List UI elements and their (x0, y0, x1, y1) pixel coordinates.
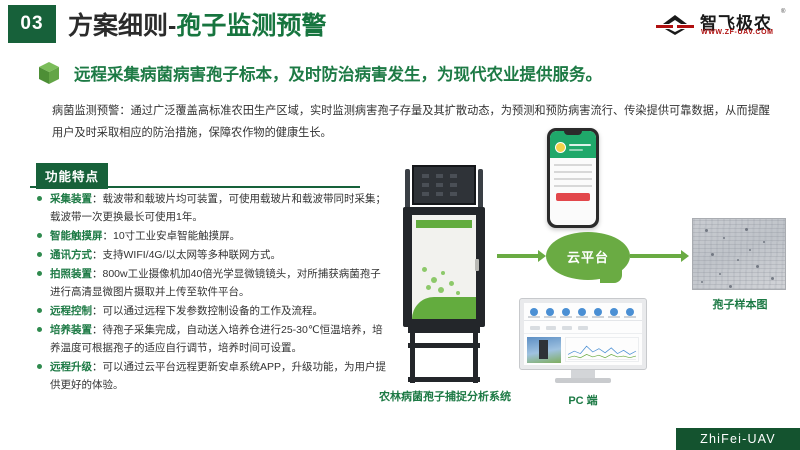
flow-arrow-device-to-cloud (497, 254, 539, 258)
phone-list-row (554, 185, 592, 187)
monitor-bezel (519, 298, 647, 370)
monitor-base (555, 378, 611, 383)
phone-app-header (550, 131, 596, 158)
phone-notch (564, 131, 582, 135)
feature-body: ：10寸工业安卓智能触摸屏。 (103, 230, 241, 242)
list-item: 远程升级：可以通过云平台远程更新安卓系统APP，升级功能，为用户提供更好的体验。 (36, 358, 388, 394)
monitor-screen (524, 303, 642, 365)
list-item: 采集装置：载波带和载玻片均可装置，可使用载玻片和载波带同时采集；载波带一次更换最… (36, 190, 388, 226)
feature-list: 采集装置：载波带和载玻片均可装置，可使用载玻片和载波带同时采集；载波带一次更换最… (36, 190, 388, 395)
feature-label: 通讯方式 (50, 249, 92, 261)
page-title-plain: 方案细则- (68, 6, 176, 42)
highlight-banner: 远程采集病菌病害孢子标本，及时防治病害发生，为现代农业提供服务。 (38, 58, 602, 88)
brand-logo: 智飞极农 ® WWW.ZF-UAV.COM (644, 7, 792, 43)
device-arm-right (478, 169, 483, 209)
dashboard-line-chart (565, 337, 639, 362)
registered-mark: ® (781, 9, 785, 15)
section-number: 03 (8, 5, 56, 43)
device-caption: 农林病菌孢子捕捉分析系统 (366, 388, 524, 404)
mobile-app-mockup (547, 128, 599, 228)
device-wave-graphic (412, 297, 476, 319)
feature-body: ：待孢子采集完成，自动送入培养仓进行25-30℃恒温培养，培养温度可根据孢子的适… (50, 324, 383, 354)
list-item: 智能触摸屏：10寸工业安卓智能触摸屏。 (36, 227, 388, 245)
bullet-icon (37, 233, 42, 238)
phone-primary-button[interactable] (556, 193, 590, 201)
feature-label: 远程升级 (50, 361, 92, 373)
bullet-icon (37, 364, 42, 369)
bullet-icon (37, 196, 42, 201)
dashboard-device-photo (527, 337, 561, 363)
phone-header-subline (569, 149, 583, 151)
page-header: 03 方案细则- 孢子监测预警 智飞极农 ® WWW.ZF-UAV.COM (0, 5, 800, 47)
feature-label: 远程控制 (50, 305, 92, 317)
pc-caption: PC 端 (527, 392, 639, 408)
feature-body: ：800w工业摄像机加40倍光学显微镜镜头，对所捕获病菌孢子进行高清显微图片摄取… (50, 268, 381, 298)
device-brand-label (416, 220, 472, 228)
feature-body: ：载波带和载玻片均可装置，可使用载玻片和载波带同时采集；载波带一次更换最长可使用… (50, 193, 386, 223)
device-cabinet (403, 207, 485, 327)
page-title: 方案细则- 孢子监测预警 (68, 5, 326, 43)
eagle-logo-icon (654, 13, 696, 37)
watermark: ZhiFei-UAV (676, 428, 800, 450)
feature-label: 拍照装置 (50, 268, 92, 280)
cloud-tail-shape (600, 265, 622, 283)
feature-label: 智能触摸屏 (50, 230, 103, 242)
spore-collector-device (396, 165, 492, 383)
list-item: 远程控制：可以通过远程下发参数控制设备的工作及流程。 (36, 302, 388, 320)
avatar (555, 142, 566, 153)
feature-body: ：支持WIFI/4G/以太网等多种联网方式。 (92, 249, 281, 261)
bullet-icon (37, 327, 42, 332)
spore-sample-image (692, 218, 786, 290)
phone-list-row (554, 178, 592, 180)
flow-arrow-cloud-to-sample (630, 254, 682, 258)
list-item: 培养装置：待孢子采集完成，自动送入培养仓进行25-30℃恒温培养，培养温度可根据… (36, 321, 388, 357)
list-item: 通讯方式：支持WIFI/4G/以太网等多种联网方式。 (36, 246, 388, 264)
description-paragraph: 病菌监测预警：通过广泛覆盖高标准农田生产区域，实时监测病害孢子存量及其扩散动态，… (52, 100, 770, 144)
feature-body: ：可以通过远程下发参数控制设备的工作及流程。 (92, 305, 323, 317)
bullet-icon (37, 308, 42, 313)
feature-label: 采集装置 (50, 193, 92, 205)
feature-body: ：可以通过云平台远程更新安卓系统APP，升级功能，为用户提供更好的体验。 (50, 361, 386, 391)
bullet-icon (37, 271, 42, 276)
phone-list-row (554, 164, 592, 166)
green-cube-icon (38, 61, 60, 85)
solar-panel (412, 165, 476, 205)
device-arm-left (405, 169, 410, 209)
photo-device-shape (539, 340, 548, 359)
phone-header-line (569, 144, 591, 146)
banner-text: 远程采集病菌病害孢子标本，及时防治病害发生，为现代农业提供服务。 (74, 61, 602, 85)
device-front-panel (412, 215, 476, 319)
feature-label: 培养装置 (50, 324, 92, 336)
pc-monitor-mockup (519, 298, 647, 386)
device-handle (475, 259, 479, 271)
device-legs (408, 327, 480, 383)
list-item: 拍照装置：800w工业摄像机加40倍光学显微镜镜头，对所捕获病菌孢子进行高清显微… (36, 265, 388, 301)
brand-url: WWW.ZF-UAV.COM (701, 29, 774, 36)
phone-screen (550, 131, 596, 225)
phone-list-row (554, 171, 592, 173)
dashboard-toolbar (524, 303, 642, 321)
bullet-icon (37, 252, 42, 257)
page-title-accent: 孢子监测预警 (176, 6, 326, 42)
sample-caption: 孢子样本图 (684, 296, 796, 312)
feature-divider (30, 186, 360, 188)
